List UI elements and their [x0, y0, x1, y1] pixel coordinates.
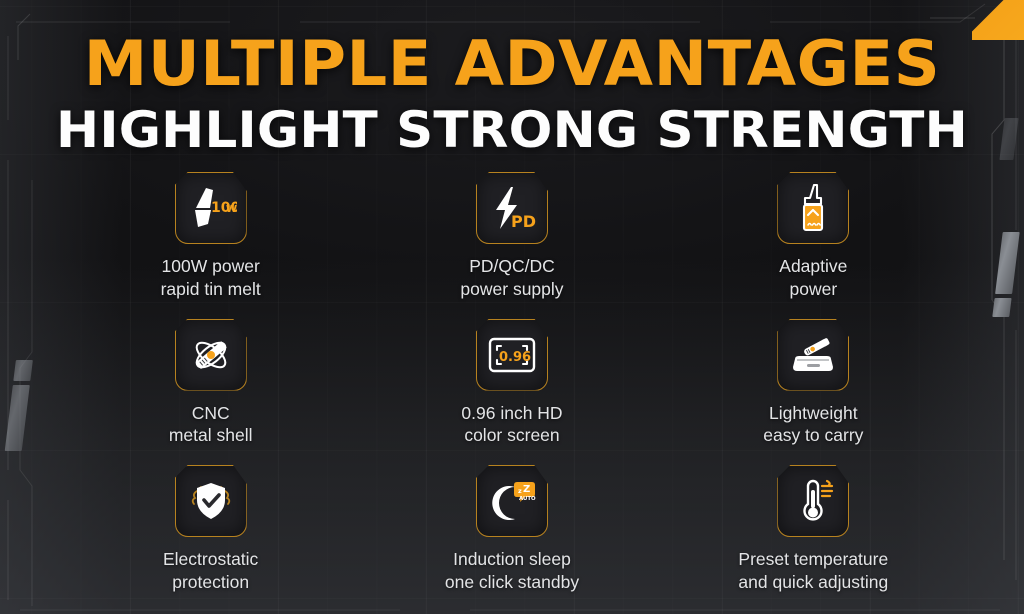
shield-check-static-icon: [175, 465, 247, 537]
caption-line-2: color screen: [461, 424, 562, 447]
caption-line-1: CNC: [169, 402, 253, 425]
display-screen-icon: 0.96 ″: [476, 319, 548, 391]
svg-text:AUTO: AUTO: [519, 496, 536, 502]
feature-caption: Electrostatic protection: [163, 548, 258, 594]
caption-line-2: power: [779, 278, 847, 301]
svg-text:″: ″: [525, 354, 528, 362]
feature-item-100w-power: 100 W 100W power rapid tin melt: [60, 172, 361, 301]
advantages-poster: MULTIPLE ADVANTAGES HIGHLIGHT STRONG STR…: [0, 0, 1024, 614]
caption-line-1: PD/QC/DC: [460, 255, 563, 278]
feature-item-preset-temperature: Preset temperature and quick adjusting: [663, 465, 964, 594]
caption-line-1: 0.96 inch HD: [461, 402, 562, 425]
caption-line-1: Adaptive: [779, 255, 847, 278]
feature-item-hd-screen: 0.96 ″ 0.96 inch HD color screen: [361, 319, 662, 448]
feature-caption: Lightweight easy to carry: [763, 402, 863, 448]
svg-text:PD: PD: [511, 212, 536, 231]
caption-line-1: Lightweight: [763, 402, 863, 425]
feature-item-power-supply: PD PD/QC/DC power supply: [361, 172, 662, 301]
atom-orbital-cnc-icon: [175, 319, 247, 391]
feature-caption: Induction sleep one click standby: [445, 548, 579, 594]
caption-line-2: rapid tin melt: [161, 278, 261, 301]
thermometer-heat-icon: [777, 465, 849, 537]
lightning-bolt-pd-icon: PD: [476, 172, 548, 244]
svg-text:z: z: [518, 487, 522, 495]
side-panel-slab-left: [4, 360, 33, 456]
caption-line-2: easy to carry: [763, 424, 863, 447]
caption-line-1: Electrostatic: [163, 548, 258, 571]
soldering-tip-100w-icon: 100 W: [175, 172, 247, 244]
caption-line-2: and quick adjusting: [738, 571, 888, 594]
page-title: MULTIPLE ADVANTAGES: [0, 32, 1024, 95]
feature-caption: 0.96 inch HD color screen: [461, 402, 562, 448]
feature-grid: 100 W 100W power rapid tin melt PD PD/QC…: [60, 172, 964, 594]
feature-item-cnc-shell: CNC metal shell: [60, 319, 361, 448]
side-panel-slab-right: [991, 232, 1019, 325]
feature-caption: PD/QC/DC power supply: [460, 255, 563, 301]
caption-line-2: power supply: [460, 278, 563, 301]
feature-caption: CNC metal shell: [169, 402, 253, 448]
heading-block: MULTIPLE ADVANTAGES HIGHLIGHT STRONG STR…: [0, 32, 1024, 156]
soldering-iron-heat-icon: [777, 172, 849, 244]
feature-item-induction-sleep: Z z AUTO Induction sleep one click stand…: [361, 465, 662, 594]
moon-sleep-auto-icon: Z z AUTO: [476, 465, 548, 537]
feature-item-electrostatic: Electrostatic protection: [60, 465, 361, 594]
caption-line-1: Induction sleep: [445, 548, 579, 571]
feature-caption: Preset temperature and quick adjusting: [738, 548, 888, 594]
caption-line-2: protection: [163, 571, 258, 594]
svg-text:W: W: [226, 204, 237, 215]
feature-caption: Adaptive power: [779, 255, 847, 301]
caption-line-2: one click standby: [445, 571, 579, 594]
caption-line-1: Preset temperature: [738, 548, 888, 571]
feature-caption: 100W power rapid tin melt: [161, 255, 261, 301]
carry-case-icon: [777, 319, 849, 391]
page-subtitle: HIGHLIGHT STRONG STRENGTH: [0, 105, 1024, 156]
feature-item-adaptive-power: Adaptive power: [663, 172, 964, 301]
caption-line-2: metal shell: [169, 424, 253, 447]
svg-text:Z: Z: [523, 484, 530, 495]
feature-item-lightweight: Lightweight easy to carry: [663, 319, 964, 448]
caption-line-1: 100W power: [161, 255, 261, 278]
